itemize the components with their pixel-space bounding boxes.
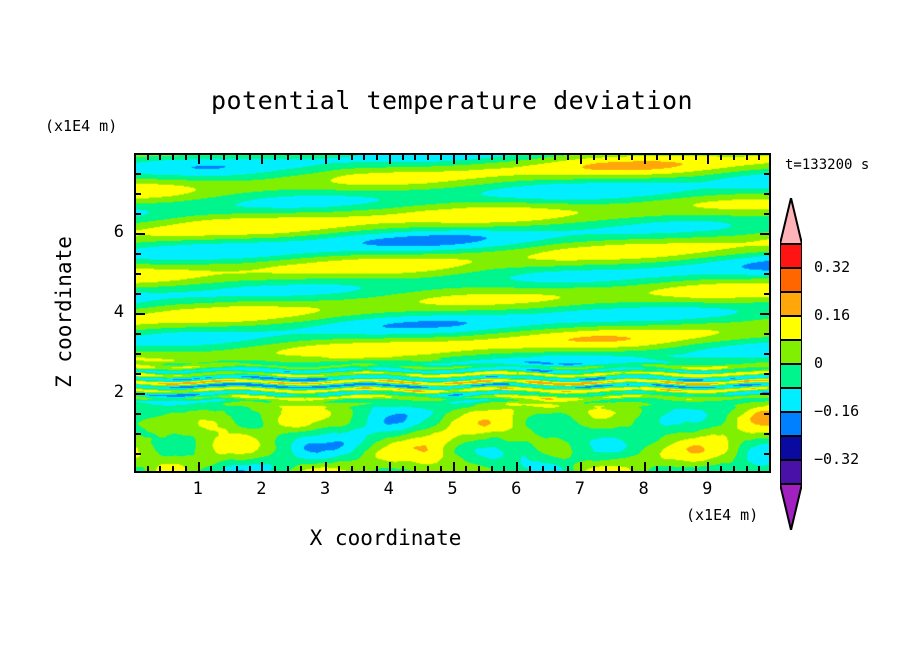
y-minor-tick-right	[764, 193, 769, 195]
page-title: potential temperature deviation	[0, 86, 904, 115]
x-minor-tick-top	[172, 155, 174, 160]
x-minor-tick-top	[465, 155, 467, 160]
x-minor-tick	[402, 466, 404, 471]
x-minor-tick	[682, 466, 684, 471]
x-minor-tick-top	[414, 155, 416, 160]
x-minor-tick	[185, 466, 187, 471]
x-minor-tick-top	[682, 155, 684, 160]
x-minor-tick	[274, 466, 276, 471]
x-minor-tick	[376, 466, 378, 471]
colorbar-tick-label: 0	[814, 354, 823, 372]
colorbar-band	[780, 316, 802, 340]
y-tick-label: 2	[98, 382, 124, 402]
z-axis-unit-label: (x1E4 m)	[45, 117, 117, 135]
x-minor-tick-top	[631, 155, 633, 160]
x-minor-tick	[758, 466, 760, 471]
contour-field-canvas	[136, 155, 769, 471]
x-major-tick-top	[516, 155, 518, 164]
colorbar-band	[780, 388, 802, 412]
x-minor-tick	[605, 466, 607, 471]
y-minor-tick	[136, 193, 141, 195]
y-minor-tick-right	[764, 293, 769, 295]
x-minor-tick	[656, 466, 658, 471]
x-minor-tick	[478, 466, 480, 471]
y-minor-tick-right	[764, 353, 769, 355]
x-minor-tick-top	[185, 155, 187, 160]
y-minor-tick-right	[764, 333, 769, 335]
x-minor-tick-top	[669, 155, 671, 160]
x-minor-tick	[223, 466, 225, 471]
x-minor-tick	[236, 466, 238, 471]
x-minor-tick-top	[300, 155, 302, 160]
x-minor-tick	[746, 466, 748, 471]
x-minor-tick	[733, 466, 735, 471]
x-minor-tick-top	[351, 155, 353, 160]
x-minor-tick	[567, 466, 569, 471]
y-major-tick-right	[760, 313, 769, 315]
x-minor-tick	[440, 466, 442, 471]
colorbar-tick-label: 0.32	[814, 258, 850, 276]
x-minor-tick	[172, 466, 174, 471]
x-minor-tick-top	[656, 155, 658, 160]
x-minor-tick	[312, 466, 314, 471]
x-minor-tick-top	[376, 155, 378, 160]
colorbar-band	[780, 460, 802, 484]
x-minor-tick	[593, 466, 595, 471]
x-minor-tick-top	[593, 155, 595, 160]
y-minor-tick-right	[764, 373, 769, 375]
x-minor-tick-top	[478, 155, 480, 160]
x-minor-tick-top	[210, 155, 212, 160]
x-minor-tick-top	[695, 155, 697, 160]
x-minor-tick	[465, 466, 467, 471]
x-minor-tick	[720, 466, 722, 471]
x-minor-tick-top	[427, 155, 429, 160]
x-major-tick	[516, 462, 518, 471]
colorbar-tick-label: 0.16	[814, 306, 850, 324]
y-minor-tick	[136, 433, 141, 435]
colorbar-under-arrow	[780, 484, 802, 530]
x-minor-tick-top	[440, 155, 442, 160]
x-major-tick-top	[325, 155, 327, 164]
y-minor-tick	[136, 373, 141, 375]
x-tick-label: 5	[438, 479, 468, 499]
y-minor-tick	[136, 213, 141, 215]
colorbar-tick-label: −0.32	[814, 450, 859, 468]
x-tick-label: 4	[374, 479, 404, 499]
x-minor-tick-top	[147, 155, 149, 160]
x-minor-tick-top	[605, 155, 607, 160]
y-minor-tick	[136, 333, 141, 335]
colorbar-tick-label: −0.16	[814, 402, 859, 420]
y-tick-label: 4	[98, 302, 124, 322]
x-minor-tick-top	[223, 155, 225, 160]
x-major-tick-top	[389, 155, 391, 164]
x-axis-title: X coordinate	[0, 526, 771, 550]
x-minor-tick	[159, 466, 161, 471]
x-minor-tick	[147, 466, 149, 471]
colorbar[interactable]	[780, 198, 810, 530]
x-minor-tick	[503, 466, 505, 471]
y-minor-tick	[136, 453, 141, 455]
x-minor-tick-top	[733, 155, 735, 160]
x-major-tick-top	[580, 155, 582, 164]
x-minor-tick	[287, 466, 289, 471]
y-major-tick	[136, 393, 145, 395]
x-major-tick	[580, 462, 582, 471]
x-tick-label: 6	[501, 479, 531, 499]
y-minor-tick	[136, 173, 141, 175]
x-minor-tick-top	[402, 155, 404, 160]
colorbar-band	[780, 268, 802, 292]
y-axis-title: Z coordinate	[52, 212, 76, 412]
x-minor-tick-top	[363, 155, 365, 160]
x-minor-tick	[529, 466, 531, 471]
x-minor-tick	[300, 466, 302, 471]
y-major-tick-right	[760, 233, 769, 235]
x-minor-tick-top	[758, 155, 760, 160]
y-minor-tick-right	[764, 453, 769, 455]
x-minor-tick-top	[312, 155, 314, 160]
x-minor-tick-top	[236, 155, 238, 160]
y-minor-tick-right	[764, 413, 769, 415]
x-minor-tick-top	[720, 155, 722, 160]
x-tick-label: 2	[246, 479, 276, 499]
x-minor-tick	[338, 466, 340, 471]
x-major-tick-top	[707, 155, 709, 164]
x-major-tick	[261, 462, 263, 471]
timestamp-annotation: t=133200 s	[785, 157, 869, 173]
x-minor-tick	[351, 466, 353, 471]
x-minor-tick-top	[491, 155, 493, 160]
x-major-tick	[389, 462, 391, 471]
x-minor-tick-top	[338, 155, 340, 160]
x-major-tick-top	[198, 155, 200, 164]
x-minor-tick	[414, 466, 416, 471]
x-minor-tick	[631, 466, 633, 471]
x-tick-label: 8	[629, 479, 659, 499]
x-minor-tick	[669, 466, 671, 471]
x-minor-tick-top	[159, 155, 161, 160]
x-minor-tick	[618, 466, 620, 471]
x-minor-tick-top	[618, 155, 620, 160]
x-minor-tick-top	[529, 155, 531, 160]
y-minor-tick	[136, 413, 141, 415]
x-minor-tick-top	[542, 155, 544, 160]
x-major-tick-top	[261, 155, 263, 164]
y-minor-tick-right	[764, 253, 769, 255]
x-axis-unit-label: (x1E4 m)	[686, 506, 758, 524]
x-major-tick	[707, 462, 709, 471]
contour-plot-area[interactable]	[134, 153, 771, 473]
x-major-tick-top	[644, 155, 646, 164]
x-minor-tick	[249, 466, 251, 471]
y-major-tick	[136, 313, 145, 315]
y-minor-tick-right	[764, 273, 769, 275]
x-minor-tick-top	[249, 155, 251, 160]
x-minor-tick	[427, 466, 429, 471]
y-minor-tick	[136, 293, 141, 295]
x-minor-tick-top	[554, 155, 556, 160]
y-minor-tick-right	[764, 213, 769, 215]
x-major-tick-top	[453, 155, 455, 164]
x-minor-tick-top	[287, 155, 289, 160]
x-minor-tick	[210, 466, 212, 471]
x-minor-tick	[554, 466, 556, 471]
x-tick-label: 3	[310, 479, 340, 499]
colorbar-band	[780, 412, 802, 436]
y-minor-tick	[136, 273, 141, 275]
colorbar-band	[780, 292, 802, 316]
y-minor-tick	[136, 353, 141, 355]
y-major-tick	[136, 233, 145, 235]
x-minor-tick-top	[503, 155, 505, 160]
x-minor-tick-top	[746, 155, 748, 160]
x-major-tick	[453, 462, 455, 471]
colorbar-band	[780, 364, 802, 388]
figure-canvas: potential temperature deviation (x1E4 m)…	[0, 0, 904, 654]
x-tick-label: 9	[692, 479, 722, 499]
x-minor-tick-top	[567, 155, 569, 160]
x-minor-tick	[695, 466, 697, 471]
colorbar-band	[780, 436, 802, 460]
x-major-tick	[325, 462, 327, 471]
x-minor-tick	[542, 466, 544, 471]
x-tick-label: 1	[183, 479, 213, 499]
y-minor-tick	[136, 253, 141, 255]
x-minor-tick	[363, 466, 365, 471]
x-tick-label: 7	[565, 479, 595, 499]
colorbar-band	[780, 244, 802, 268]
y-tick-label: 6	[98, 222, 124, 242]
colorbar-band	[780, 340, 802, 364]
y-major-tick-right	[760, 393, 769, 395]
x-major-tick	[644, 462, 646, 471]
x-minor-tick-top	[274, 155, 276, 160]
x-minor-tick	[491, 466, 493, 471]
colorbar-over-arrow	[780, 198, 802, 244]
y-minor-tick-right	[764, 173, 769, 175]
x-major-tick	[198, 462, 200, 471]
y-minor-tick-right	[764, 433, 769, 435]
